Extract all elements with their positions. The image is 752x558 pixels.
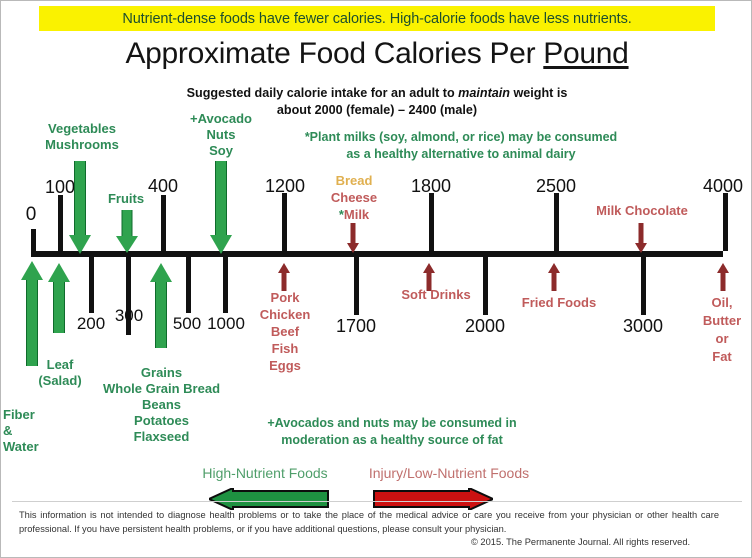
arrow-oil-butter-fat-up-icon [717, 263, 729, 291]
label-soy: Soy [181, 143, 261, 159]
plant-milk-note: *Plant milks (soy, almond, or rice) may … [291, 129, 631, 163]
label-milk: *Milk [319, 206, 389, 223]
arrow-fried-foods-up-icon [548, 263, 560, 291]
avocado-note-line-2: moderation as a healthy source of fat [237, 432, 547, 449]
axis-label-2500: 2500 [528, 176, 584, 197]
title-main: Approximate Food Calories Per [125, 37, 543, 70]
axis-label-1800: 1800 [403, 176, 459, 197]
arrow-leaf-salad-up-icon [48, 263, 70, 333]
disclaimer-text: This information is not intended to diag… [19, 509, 719, 536]
label-salad: (Salad) [29, 373, 91, 389]
label-whole-grain-bread: Whole Grain Bread [89, 381, 234, 397]
arrow-fiber-water-up-icon [21, 261, 43, 366]
subtitle: Suggested daily calorie intake for an ad… [1, 85, 752, 119]
label-avocado: +Avocado [181, 111, 261, 127]
label-water: Water [3, 439, 63, 455]
legend-low-nutrient-arrow-right-icon [373, 488, 493, 510]
label-leaf: Leaf [29, 357, 91, 373]
copyright-text: © 2015. The Permanente Journal. All righ… [471, 536, 721, 549]
axis-tick-100 [58, 195, 63, 251]
label-vegetables-mushrooms: Vegetables Mushrooms [27, 121, 137, 153]
title-underlined: Pound [543, 37, 628, 70]
label-potatoes: Potatoes [89, 413, 234, 429]
label-dairy-group: Bread Cheese *Milk [319, 172, 389, 223]
arrow-dairy-down-icon [347, 223, 359, 253]
axis-label-1000: 1000 [200, 314, 252, 334]
legend-low-nutrient-label: Injury/Low-Nutrient Foods [359, 465, 539, 481]
axis-label-0: 0 [13, 204, 49, 226]
footer-divider [12, 501, 742, 502]
label-milk-text: Milk [344, 207, 369, 222]
axis-tick-1700 [354, 257, 359, 315]
label-oil: Oil, [693, 294, 751, 312]
subtitle-line1-a: Suggested daily calorie intake for an ad… [187, 86, 459, 100]
axis-tick-400 [161, 195, 166, 251]
label-vegetables: Vegetables [27, 121, 137, 137]
label-fish: Fish [249, 340, 321, 357]
plant-milk-note-line-1: *Plant milks (soy, almond, or rice) may … [291, 129, 631, 146]
axis-label-3000: 3000 [615, 316, 671, 337]
axis-tick-1200 [282, 193, 287, 251]
label-ampersand: & [3, 423, 63, 439]
label-beans: Beans [89, 397, 234, 413]
subtitle-emphasis: maintain [458, 86, 510, 100]
label-butter: Butter [693, 312, 751, 330]
banner-text: Nutrient-dense foods have fewer calories… [122, 11, 631, 27]
axis-tick-4000 [723, 193, 728, 251]
arrow-fruits-down-icon [116, 210, 138, 254]
axis-tick-1800 [429, 193, 434, 251]
arrow-vegetables-down-icon [69, 161, 91, 254]
label-or: or [693, 330, 751, 348]
axis-tick-0 [31, 229, 36, 251]
arrow-meat-up-icon [278, 263, 290, 291]
axis-tick-500 [186, 257, 191, 313]
label-meat-group: Pork Chicken Beef Fish Eggs [249, 289, 321, 374]
label-milk-chocolate: Milk Chocolate [581, 202, 703, 219]
axis-tick-3000 [641, 257, 646, 315]
label-fruits: Fruits [93, 191, 159, 207]
label-grains-group: Grains Whole Grain Bread Beans Potatoes … [89, 365, 234, 445]
label-chicken: Chicken [249, 306, 321, 323]
label-fried-foods: Fried Foods [509, 294, 609, 311]
label-oil-butter-fat: Oil, Butter or Fat [693, 294, 751, 366]
label-fat: Fat [693, 348, 751, 366]
axis-label-1700: 1700 [328, 316, 384, 337]
axis-tick-200 [89, 257, 94, 313]
label-mushrooms: Mushrooms [27, 137, 137, 153]
label-eggs: Eggs [249, 357, 321, 374]
label-bread: Bread [319, 172, 389, 189]
label-cheese: Cheese [319, 189, 389, 206]
arrow-avocado-down-icon [210, 161, 232, 254]
label-pork: Pork [249, 289, 321, 306]
label-fiber: Fiber [3, 407, 63, 423]
legend-red-arrow-outline [373, 488, 493, 510]
axis-label-4000: 4000 [695, 176, 751, 197]
axis-label-300: 300 [105, 306, 153, 326]
label-beef: Beef [249, 323, 321, 340]
infographic-canvas: Nutrient-dense foods have fewer calories… [0, 0, 752, 558]
header-banner: Nutrient-dense foods have fewer calories… [39, 6, 715, 31]
axis-tick-1000 [223, 257, 228, 313]
plant-milk-note-line-2: as a healthy alternative to animal dairy [291, 146, 631, 163]
label-grains: Grains [89, 365, 234, 381]
subtitle-line-2: about 2000 (female) – 2400 (male) [1, 102, 752, 119]
subtitle-line-1: Suggested daily calorie intake for an ad… [1, 85, 752, 102]
arrow-milk-chocolate-down-icon [635, 223, 647, 253]
label-leaf-salad: Leaf (Salad) [29, 357, 91, 389]
avocado-note-line-1: +Avocados and nuts may be consumed in [237, 415, 547, 432]
label-fiber-water: Fiber & Water [3, 407, 63, 455]
legend-high-nutrient-arrow-left-icon [209, 488, 329, 510]
arrow-grains-up-icon [150, 263, 172, 348]
legend-green-arrow-outline [209, 488, 329, 510]
axis-label-2000: 2000 [457, 316, 513, 337]
axis-tick-2500 [554, 193, 559, 251]
avocado-note: +Avocados and nuts may be consumed in mo… [237, 415, 547, 449]
label-flaxseed: Flaxseed [89, 429, 234, 445]
axis-label-1200: 1200 [257, 176, 313, 197]
page-title: Approximate Food Calories Per Pound [1, 37, 752, 71]
legend-high-nutrient-label: High-Nutrient Foods [195, 465, 335, 481]
label-soft-drinks: Soft Drinks [386, 286, 486, 303]
label-avocado-nuts-soy: +Avocado Nuts Soy [181, 111, 261, 159]
label-nuts: Nuts [181, 127, 261, 143]
subtitle-line1-b: weight is [510, 86, 567, 100]
